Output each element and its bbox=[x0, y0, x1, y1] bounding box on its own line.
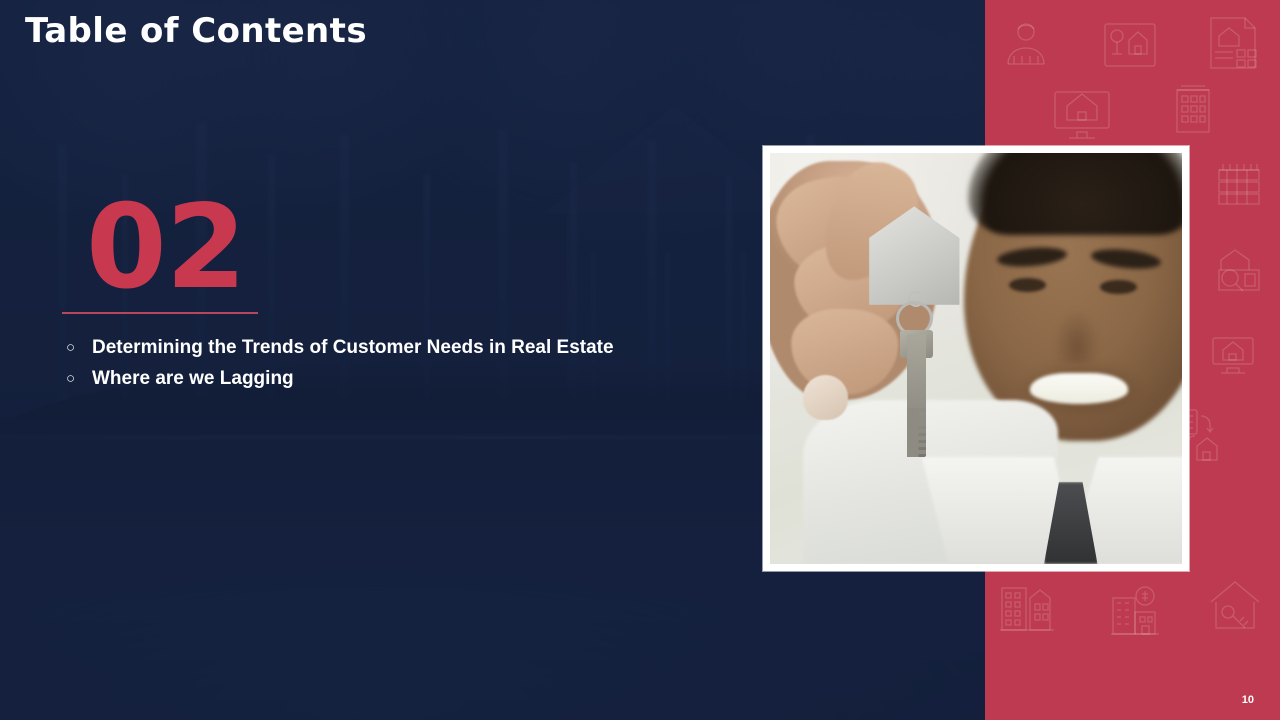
house-key-icon bbox=[1207, 578, 1263, 632]
table-of-contents-list: ○ Determining the Trends of Customer Nee… bbox=[62, 333, 642, 395]
property-document-icon bbox=[1207, 16, 1263, 70]
section-divider-rule bbox=[62, 312, 258, 314]
page-number: 10 bbox=[1242, 694, 1254, 706]
house-webcam-icon bbox=[1209, 330, 1257, 376]
photo-frame bbox=[763, 146, 1189, 571]
apartment-building-icon bbox=[1173, 84, 1213, 134]
house-on-monitor-icon bbox=[1053, 88, 1111, 140]
bullet-circle-icon: ○ bbox=[62, 364, 92, 393]
list-item[interactable]: ○ Determining the Trends of Customer Nee… bbox=[62, 333, 642, 362]
slide-canvas: Table of Contents 02 ○ Determining the T… bbox=[0, 0, 1280, 720]
section-number: 02 bbox=[86, 190, 245, 306]
toc-item-label: Where are we Lagging bbox=[92, 364, 642, 393]
bullet-circle-icon: ○ bbox=[62, 333, 92, 362]
building-price-icon bbox=[1109, 586, 1161, 636]
townhouse-row-icon bbox=[1217, 160, 1261, 206]
agent-with-keys-photo bbox=[770, 153, 1182, 564]
toc-item-label: Determining the Trends of Customer Needs… bbox=[92, 333, 642, 362]
list-item[interactable]: ○ Where are we Lagging bbox=[62, 364, 642, 393]
house-search-icon bbox=[1215, 246, 1263, 292]
photo-hair bbox=[968, 153, 1182, 235]
city-buildings-icon bbox=[999, 580, 1055, 632]
page-title: Table of Contents bbox=[25, 11, 367, 51]
real-estate-agent-icon bbox=[1000, 18, 1052, 70]
house-with-signpost-icon bbox=[1103, 20, 1157, 70]
